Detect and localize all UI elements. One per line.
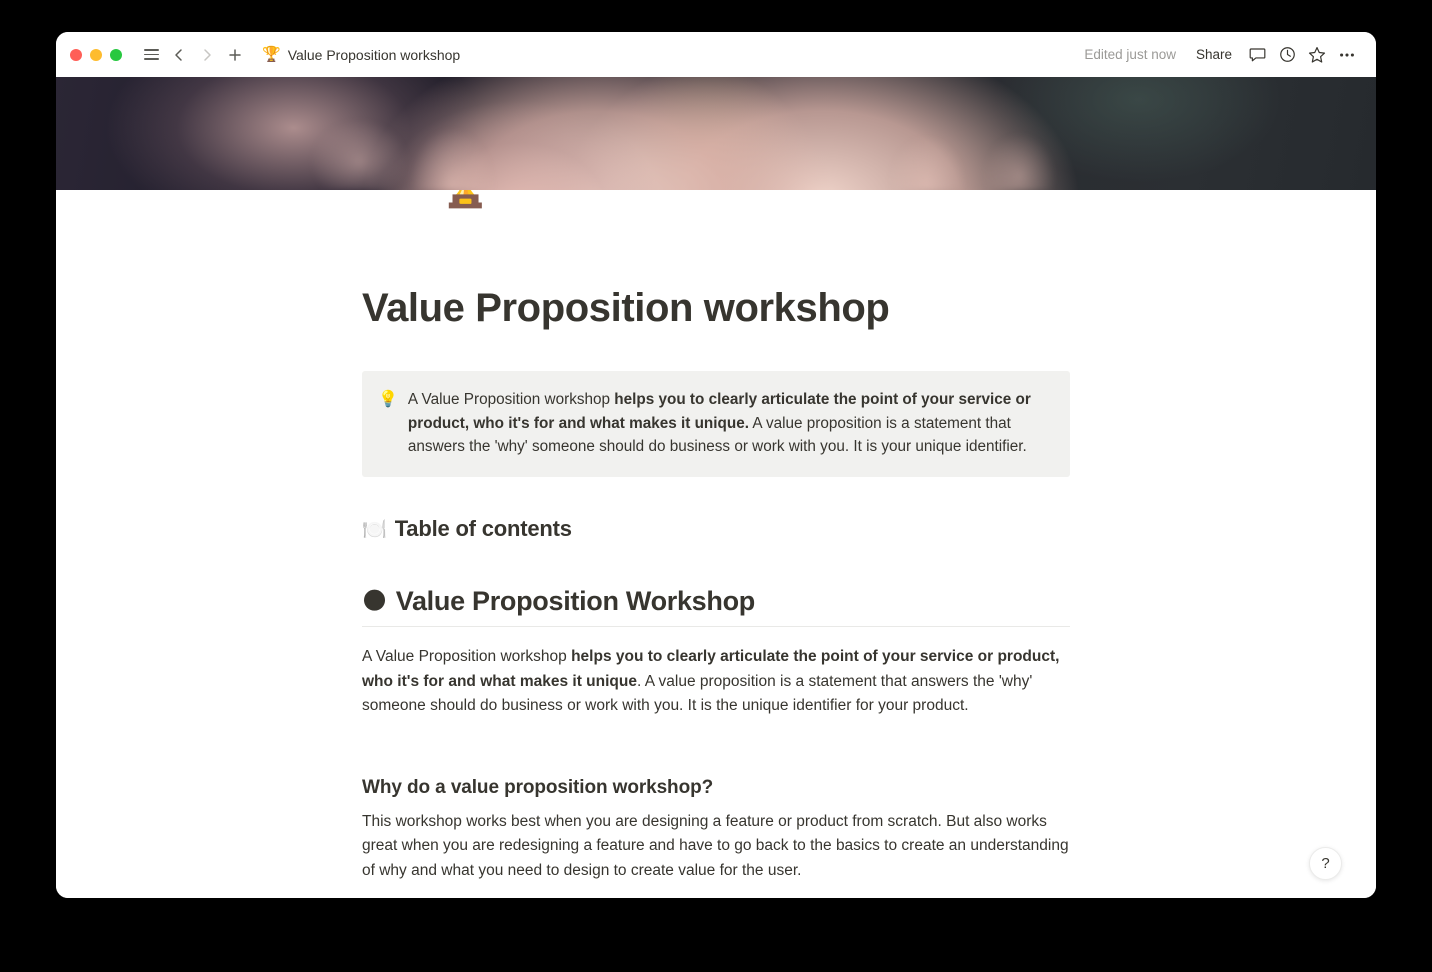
- lightbulb-icon: 💡: [378, 388, 398, 459]
- back-button[interactable]: [166, 42, 192, 68]
- page-breadcrumb-tab[interactable]: 🏆 Value Proposition workshop: [256, 44, 466, 66]
- page-history-button[interactable]: [1274, 42, 1300, 68]
- table-of-contents-label: Table of contents: [395, 516, 572, 542]
- navigation-icons: [138, 42, 248, 68]
- cover-texture: [56, 77, 1376, 190]
- maximize-window-button[interactable]: [110, 49, 122, 61]
- close-window-button[interactable]: [70, 49, 82, 61]
- forward-button[interactable]: [194, 42, 220, 68]
- document-content: 🏆 Value Proposition workshop 💡 A Value P…: [362, 190, 1070, 883]
- table-of-contents-heading[interactable]: 🍽️ Table of contents: [362, 516, 1070, 542]
- titlebar-actions: Edited just now Share: [1084, 42, 1360, 68]
- more-options-button[interactable]: [1334, 42, 1360, 68]
- section-heading-label: Value Proposition Workshop: [396, 586, 755, 617]
- subsection-paragraph[interactable]: This workshop works best when you are de…: [362, 810, 1070, 883]
- ellipsis-icon: [1337, 45, 1357, 65]
- chevron-right-icon: [199, 47, 215, 63]
- new-page-button[interactable]: [222, 42, 248, 68]
- heading-divider: [362, 626, 1070, 627]
- page-title[interactable]: Value Proposition workshop: [362, 190, 1070, 332]
- plus-icon: [227, 47, 243, 63]
- share-button[interactable]: Share: [1188, 43, 1240, 66]
- menu-icon: [144, 49, 159, 60]
- sidebar-toggle-button[interactable]: [138, 42, 164, 68]
- edited-status: Edited just now: [1084, 47, 1176, 62]
- section-paragraph-lead: A Value Proposition workshop: [362, 648, 571, 665]
- subsection-heading[interactable]: Why do a value proposition workshop?: [362, 777, 1070, 799]
- page-icon-trophy-icon[interactable]: 🏆: [427, 190, 504, 207]
- app-window: 🏆 Value Proposition workshop Edited just…: [56, 32, 1376, 898]
- section-paragraph[interactable]: A Value Proposition workshop helps you t…: [362, 645, 1070, 718]
- callout-lead: A Value Proposition workshop: [408, 391, 614, 408]
- section-heading[interactable]: 🌑 Value Proposition Workshop: [362, 586, 1070, 626]
- help-button[interactable]: ?: [1309, 847, 1342, 880]
- document-scroll-area[interactable]: 🏆 Value Proposition workshop 💡 A Value P…: [56, 190, 1376, 898]
- page-tab-title: Value Proposition workshop: [288, 47, 461, 63]
- page-cover-image[interactable]: [56, 77, 1376, 190]
- moon-icon: 🌑: [362, 587, 387, 616]
- traffic-lights: [70, 49, 122, 61]
- star-icon: [1307, 45, 1327, 65]
- title-bar: 🏆 Value Proposition workshop Edited just…: [56, 32, 1376, 77]
- chevron-left-icon: [171, 47, 187, 63]
- clock-icon: [1278, 45, 1297, 64]
- callout-text: A Value Proposition workshop helps you t…: [408, 388, 1052, 459]
- minimize-window-button[interactable]: [90, 49, 102, 61]
- plate-cutlery-icon: 🍽️: [362, 517, 387, 542]
- trophy-icon: 🏆: [262, 47, 281, 62]
- comments-button[interactable]: [1244, 42, 1270, 68]
- favorite-button[interactable]: [1304, 42, 1330, 68]
- comment-icon: [1248, 45, 1267, 64]
- callout-block[interactable]: 💡 A Value Proposition workshop helps you…: [362, 371, 1070, 477]
